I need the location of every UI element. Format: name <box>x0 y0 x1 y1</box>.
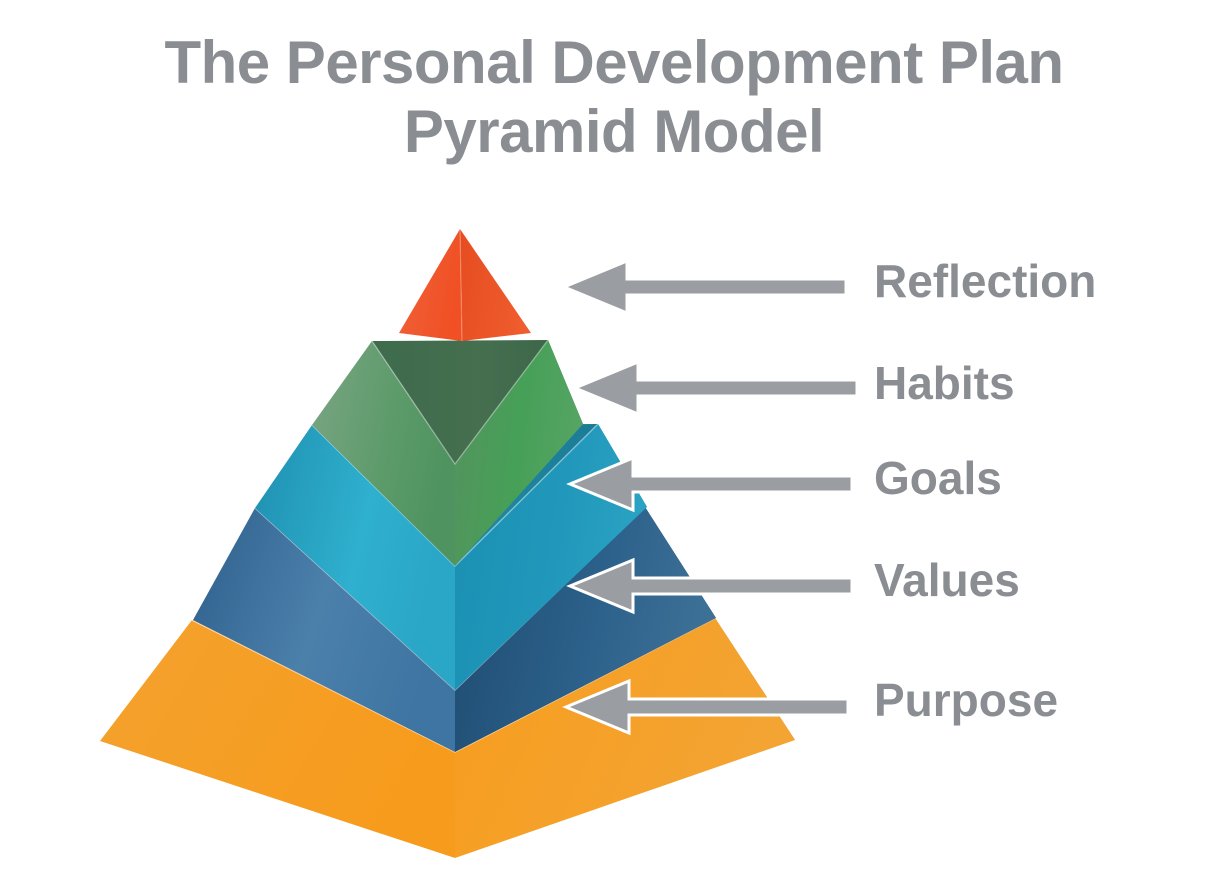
label-purpose: Purpose <box>874 677 1058 723</box>
arrow-goals <box>570 458 852 510</box>
pyramid-level-reflection <box>399 229 531 341</box>
reflection-left-face <box>399 229 462 341</box>
label-values: Values <box>874 557 1020 603</box>
arrow-reflection <box>564 261 846 313</box>
label-habits: Habits <box>874 360 1015 406</box>
label-goals: Goals <box>874 455 1002 501</box>
arrow-values <box>570 560 852 612</box>
label-reflection: Reflection <box>874 258 1096 304</box>
reflection-right-face <box>460 229 531 341</box>
pyramid-graphic <box>0 0 1228 894</box>
diagram-canvas: The Personal Development Plan Pyramid Mo… <box>0 0 1228 894</box>
arrow-habits <box>575 362 857 414</box>
